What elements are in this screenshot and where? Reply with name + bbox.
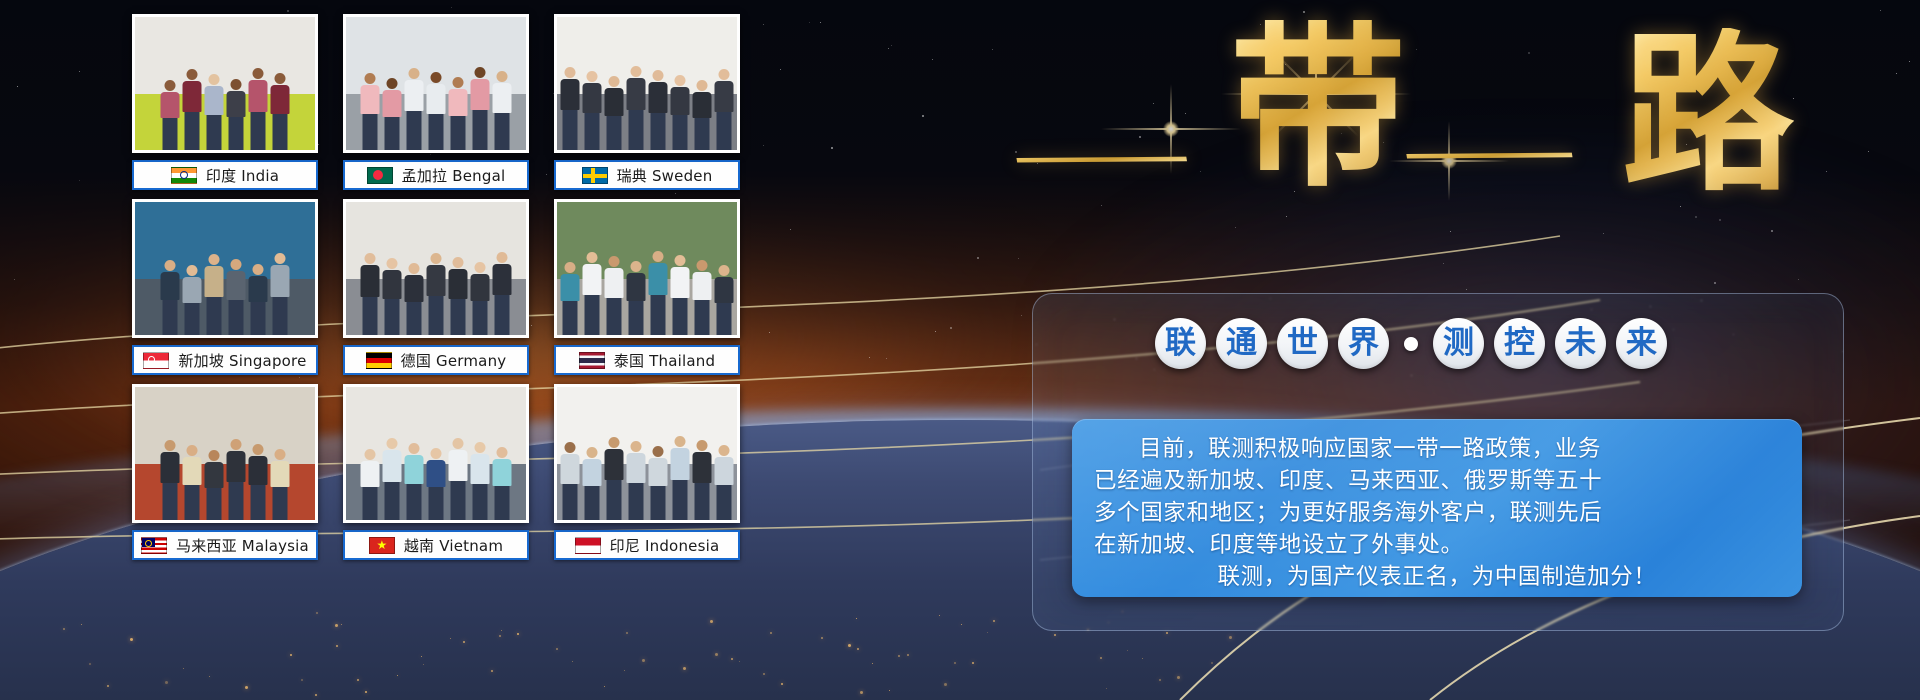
photo-person bbox=[227, 439, 246, 520]
photo-person bbox=[249, 444, 268, 520]
country-photo[interactable] bbox=[132, 199, 318, 338]
photo-person bbox=[693, 80, 712, 150]
country-photo[interactable] bbox=[554, 384, 740, 523]
country-label-text: 孟加拉 Bengal bbox=[402, 165, 506, 186]
photo-people-group bbox=[361, 438, 512, 521]
description-line: 已经遍及新加坡、印度、马来西亚、俄罗斯等五十 bbox=[1094, 465, 1780, 497]
country-label[interactable]: 新加坡 Singapore bbox=[132, 345, 318, 375]
country-card[interactable]: 新加坡 Singapore bbox=[132, 199, 318, 375]
photo-person bbox=[271, 449, 290, 520]
photo-people-group bbox=[161, 439, 290, 520]
photo-person bbox=[471, 442, 490, 520]
flag-singapore-icon bbox=[143, 352, 169, 369]
country-card[interactable]: 印尼 Indonesia bbox=[554, 384, 740, 560]
photo-person bbox=[493, 252, 512, 335]
photo-person bbox=[449, 438, 468, 521]
photo-person bbox=[449, 257, 468, 335]
slogan-char-bubble: 通 bbox=[1216, 318, 1267, 369]
photo-person bbox=[471, 67, 490, 150]
country-label-text: 越南 Vietnam bbox=[404, 535, 503, 556]
photo-person bbox=[561, 442, 580, 520]
photo-person bbox=[361, 449, 380, 520]
gold-title-char-2: 带 bbox=[1230, 20, 1406, 196]
country-label[interactable]: 孟加拉 Bengal bbox=[343, 160, 529, 190]
photo-person bbox=[627, 441, 646, 520]
photo-people-group bbox=[561, 436, 734, 520]
slogan-char-bubble: 界 bbox=[1338, 318, 1389, 369]
photo-person bbox=[605, 76, 624, 150]
photo-people-group bbox=[161, 68, 290, 150]
photo-person bbox=[249, 264, 268, 335]
country-card[interactable]: 印度 India bbox=[132, 14, 318, 190]
photo-person bbox=[427, 253, 446, 336]
photo-person bbox=[715, 445, 734, 520]
photo-person bbox=[161, 440, 180, 520]
photo-person bbox=[183, 69, 202, 150]
photo-person bbox=[405, 263, 424, 335]
photo-person bbox=[405, 68, 424, 151]
photo-people-group bbox=[361, 252, 512, 335]
photo-person bbox=[383, 78, 402, 150]
photo-person bbox=[205, 254, 224, 335]
country-label[interactable]: 印尼 Indonesia bbox=[554, 530, 740, 560]
country-label-text: 新加坡 Singapore bbox=[178, 350, 306, 371]
photo-person bbox=[693, 260, 712, 335]
photo-person bbox=[183, 265, 202, 335]
photo-person bbox=[449, 77, 468, 150]
country-card[interactable]: 孟加拉 Bengal bbox=[343, 14, 529, 190]
photo-person bbox=[561, 262, 580, 335]
photo-person bbox=[583, 447, 602, 520]
photo-person bbox=[205, 450, 224, 520]
country-photo[interactable] bbox=[343, 14, 529, 153]
photo-person bbox=[605, 256, 624, 335]
country-label-text: 印尼 Indonesia bbox=[610, 535, 720, 556]
country-label-text: 马来西亚 Malaysia bbox=[176, 535, 309, 556]
photo-person bbox=[427, 72, 446, 150]
slogan-char-bubble: 世 bbox=[1277, 318, 1328, 369]
country-label-text: 印度 India bbox=[206, 165, 279, 186]
country-photo[interactable] bbox=[343, 384, 529, 523]
country-photo[interactable] bbox=[343, 199, 529, 338]
banner-stage: 印度 India孟加拉 Bengal瑞典 Sweden新加坡 Singapore… bbox=[0, 0, 1920, 700]
country-label[interactable]: 越南 Vietnam bbox=[343, 530, 529, 560]
photo-person bbox=[715, 69, 734, 150]
country-card[interactable]: 德国 Germany bbox=[343, 199, 529, 375]
photo-person bbox=[649, 251, 668, 335]
description-line: 多个国家和地区；为更好服务海外客户，联测先后 bbox=[1094, 497, 1780, 529]
country-photo[interactable] bbox=[554, 14, 740, 153]
photo-person bbox=[693, 440, 712, 520]
gold-title-char-4: 路 bbox=[1622, 28, 1794, 200]
photo-person bbox=[627, 66, 646, 150]
slogan-row: 联通世界测控未来 bbox=[1155, 318, 1667, 369]
photo-person bbox=[583, 71, 602, 150]
photo-person bbox=[271, 253, 290, 335]
photo-people-group bbox=[361, 67, 512, 150]
slogan-char-bubble: 来 bbox=[1616, 318, 1667, 369]
gold-title-char-1: 一 bbox=[1009, 140, 1195, 182]
photo-person bbox=[627, 261, 646, 335]
flag-thailand-icon bbox=[579, 352, 605, 369]
country-label[interactable]: 印度 India bbox=[132, 160, 318, 190]
photo-person bbox=[227, 79, 246, 150]
photo-person bbox=[405, 443, 424, 520]
photo-person bbox=[161, 260, 180, 335]
slogan-char-bubble: 联 bbox=[1155, 318, 1206, 369]
slogan-char-bubble: 未 bbox=[1555, 318, 1606, 369]
photo-person bbox=[427, 448, 446, 520]
photo-people-group bbox=[561, 251, 734, 335]
country-photo[interactable] bbox=[132, 384, 318, 523]
gold-calligraphy-title: 一 带 一 路 bbox=[1022, 8, 1582, 213]
photo-person bbox=[561, 67, 580, 150]
photo-people-group bbox=[561, 66, 734, 150]
description-line: 联测，为国产仪表正名，为中国制造加分！ bbox=[1094, 561, 1780, 593]
photo-person bbox=[205, 74, 224, 150]
country-photo[interactable] bbox=[554, 199, 740, 338]
photo-person bbox=[671, 75, 690, 150]
country-photo-grid: 印度 India孟加拉 Bengal瑞典 Sweden新加坡 Singapore… bbox=[132, 14, 752, 586]
country-label[interactable]: 瑞典 Sweden bbox=[554, 160, 740, 190]
flag-germany-icon bbox=[366, 352, 392, 369]
photo-person bbox=[605, 437, 624, 520]
flag-sweden-icon bbox=[582, 167, 608, 184]
country-label-text: 泰国 Thailand bbox=[614, 350, 715, 371]
photo-person bbox=[471, 262, 490, 335]
flag-indonesia-icon bbox=[575, 537, 601, 554]
photo-person bbox=[227, 259, 246, 335]
country-card[interactable]: 越南 Vietnam bbox=[343, 384, 529, 560]
photo-person bbox=[583, 252, 602, 335]
country-card[interactable]: 马来西亚 Malaysia bbox=[132, 384, 318, 560]
photo-person bbox=[493, 447, 512, 520]
photo-person bbox=[271, 73, 290, 150]
country-label[interactable]: 马来西亚 Malaysia bbox=[132, 530, 318, 560]
country-card[interactable]: 瑞典 Sweden bbox=[554, 14, 740, 190]
photo-person bbox=[649, 446, 668, 520]
flag-malaysia-icon bbox=[141, 537, 167, 554]
photo-person bbox=[383, 258, 402, 335]
country-label-text: 德国 Germany bbox=[401, 350, 507, 371]
photo-person bbox=[493, 71, 512, 150]
photo-person bbox=[161, 80, 180, 150]
photo-person bbox=[671, 255, 690, 335]
gold-title-char-3: 一 bbox=[1399, 136, 1580, 178]
country-card[interactable]: 泰国 Thailand bbox=[554, 199, 740, 375]
slogan-separator-dot-icon bbox=[1404, 337, 1418, 351]
country-label[interactable]: 德国 Germany bbox=[343, 345, 529, 375]
flag-vietnam-icon bbox=[369, 537, 395, 554]
slogan-char-bubble: 测 bbox=[1433, 318, 1484, 369]
photo-person bbox=[715, 265, 734, 335]
photo-person bbox=[649, 70, 668, 150]
country-label[interactable]: 泰国 Thailand bbox=[554, 345, 740, 375]
flag-bangladesh-icon bbox=[367, 167, 393, 184]
description-line: 在新加坡、印度等地设立了外事处。 bbox=[1094, 529, 1780, 561]
country-label-text: 瑞典 Sweden bbox=[617, 165, 713, 186]
photo-person bbox=[249, 68, 268, 150]
photo-person bbox=[361, 253, 380, 335]
flag-india-icon bbox=[171, 167, 197, 184]
country-photo[interactable] bbox=[132, 14, 318, 153]
photo-person bbox=[671, 436, 690, 520]
description-line: 目前，联测积极响应国家一带一路政策，业务 bbox=[1094, 433, 1780, 465]
photo-person bbox=[183, 445, 202, 520]
slogan-char-bubble: 控 bbox=[1494, 318, 1545, 369]
photo-person bbox=[361, 73, 380, 150]
description-panel: 目前，联测积极响应国家一带一路政策，业务已经遍及新加坡、印度、马来西亚、俄罗斯等… bbox=[1072, 419, 1802, 597]
photo-person bbox=[383, 438, 402, 520]
photo-people-group bbox=[161, 253, 290, 335]
